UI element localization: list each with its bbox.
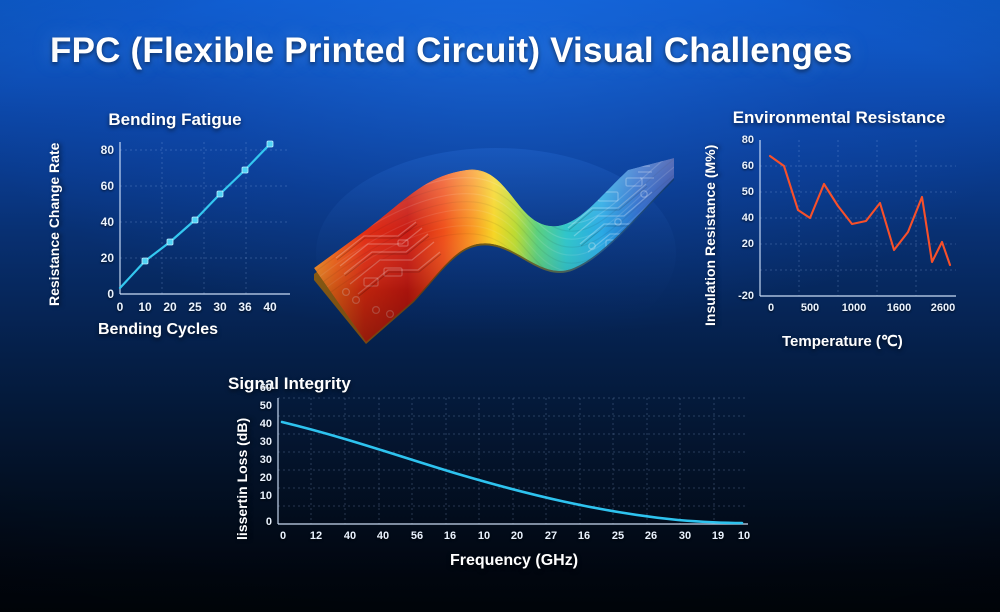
poster-canvas: FPC (Flexible Printed Circuit) Visual Ch… <box>0 0 1000 612</box>
xtick-signal-1: 12 <box>310 530 322 542</box>
ytick-bending-80: 80 <box>86 143 114 157</box>
xtick-signal-13: 19 <box>712 530 724 542</box>
ytick-bending-0: 0 <box>86 287 114 301</box>
ytick-signal-10: 10 <box>248 490 272 502</box>
xtick-bending-10: 10 <box>138 300 151 314</box>
ytick-bending-40: 40 <box>86 215 114 229</box>
ytick-signal-0: 0 <box>248 516 272 528</box>
xtick-signal-5: 16 <box>444 530 456 542</box>
ytick-signal-60: 60 <box>248 382 272 394</box>
ytick-signal-30a: 30 <box>248 436 272 448</box>
ytick-env-20: 20 <box>726 238 754 250</box>
xtick-env-1600: 1600 <box>887 302 911 314</box>
ytick-signal-20: 20 <box>248 472 272 484</box>
xtick-signal-8: 27 <box>545 530 557 542</box>
xtick-signal-14: 10 <box>738 530 750 542</box>
plot-area-signal: 60 50 40 30 30 20 10 0 0 12 40 40 56 16 … <box>278 398 748 612</box>
chart-title-environmental: Environmental Resistance <box>702 108 976 128</box>
plot-area-environmental: 80 60 50 40 20 -20 0 500 1000 1600 2600 <box>760 140 956 410</box>
xtick-signal-4: 56 <box>411 530 423 542</box>
xtick-bending-36: 36 <box>238 300 251 314</box>
xtick-env-1000: 1000 <box>842 302 866 314</box>
xtick-signal-2: 40 <box>344 530 356 542</box>
ytick-env-minus20: -20 <box>726 290 754 302</box>
ytick-bending-20: 20 <box>86 251 114 265</box>
xtick-env-0: 0 <box>768 302 774 314</box>
fpc-wave-illustration <box>306 118 682 374</box>
xtick-signal-7: 20 <box>511 530 523 542</box>
xtick-bending-40: 40 <box>263 300 276 314</box>
chart-signal-integrity: Signal Integrity lissertin Loss (dB) Fre… <box>228 370 788 580</box>
xtick-signal-0: 0 <box>280 530 286 542</box>
xtick-signal-3: 40 <box>377 530 389 542</box>
xtick-signal-12: 30 <box>679 530 691 542</box>
ytick-env-80: 80 <box>726 134 754 146</box>
y-axis-label-environmental: Insulation Resistance (M%) <box>702 145 718 326</box>
xtick-bending-25: 25 <box>188 300 201 314</box>
xtick-bending-20: 20 <box>163 300 176 314</box>
xtick-signal-6: 10 <box>478 530 490 542</box>
ytick-bending-60: 60 <box>86 179 114 193</box>
xtick-signal-9: 16 <box>578 530 590 542</box>
chart-bending-fatigue: Bending Fatigue Resistance Change Rate B… <box>38 106 303 356</box>
xtick-signal-11: 26 <box>645 530 657 542</box>
xtick-bending-30: 30 <box>213 300 226 314</box>
ytick-signal-50: 50 <box>248 400 272 412</box>
chart-title-bending: Bending Fatigue <box>60 110 290 130</box>
ytick-env-50: 50 <box>726 186 754 198</box>
page-title: FPC (Flexible Printed Circuit) Visual Ch… <box>50 31 852 71</box>
ytick-signal-30b: 30 <box>248 454 272 466</box>
xtick-bending-0: 0 <box>117 300 124 314</box>
xtick-env-500: 500 <box>801 302 819 314</box>
ytick-env-40: 40 <box>726 212 754 224</box>
ytick-env-60: 60 <box>726 160 754 172</box>
chart-environmental-resistance: Environmental Resistance Insulation Resi… <box>694 104 984 359</box>
ytick-signal-40: 40 <box>248 418 272 430</box>
xtick-signal-10: 25 <box>612 530 624 542</box>
xtick-env-2600: 2600 <box>931 302 955 314</box>
y-axis-label-bending: Resistance Change Rate <box>46 143 62 306</box>
